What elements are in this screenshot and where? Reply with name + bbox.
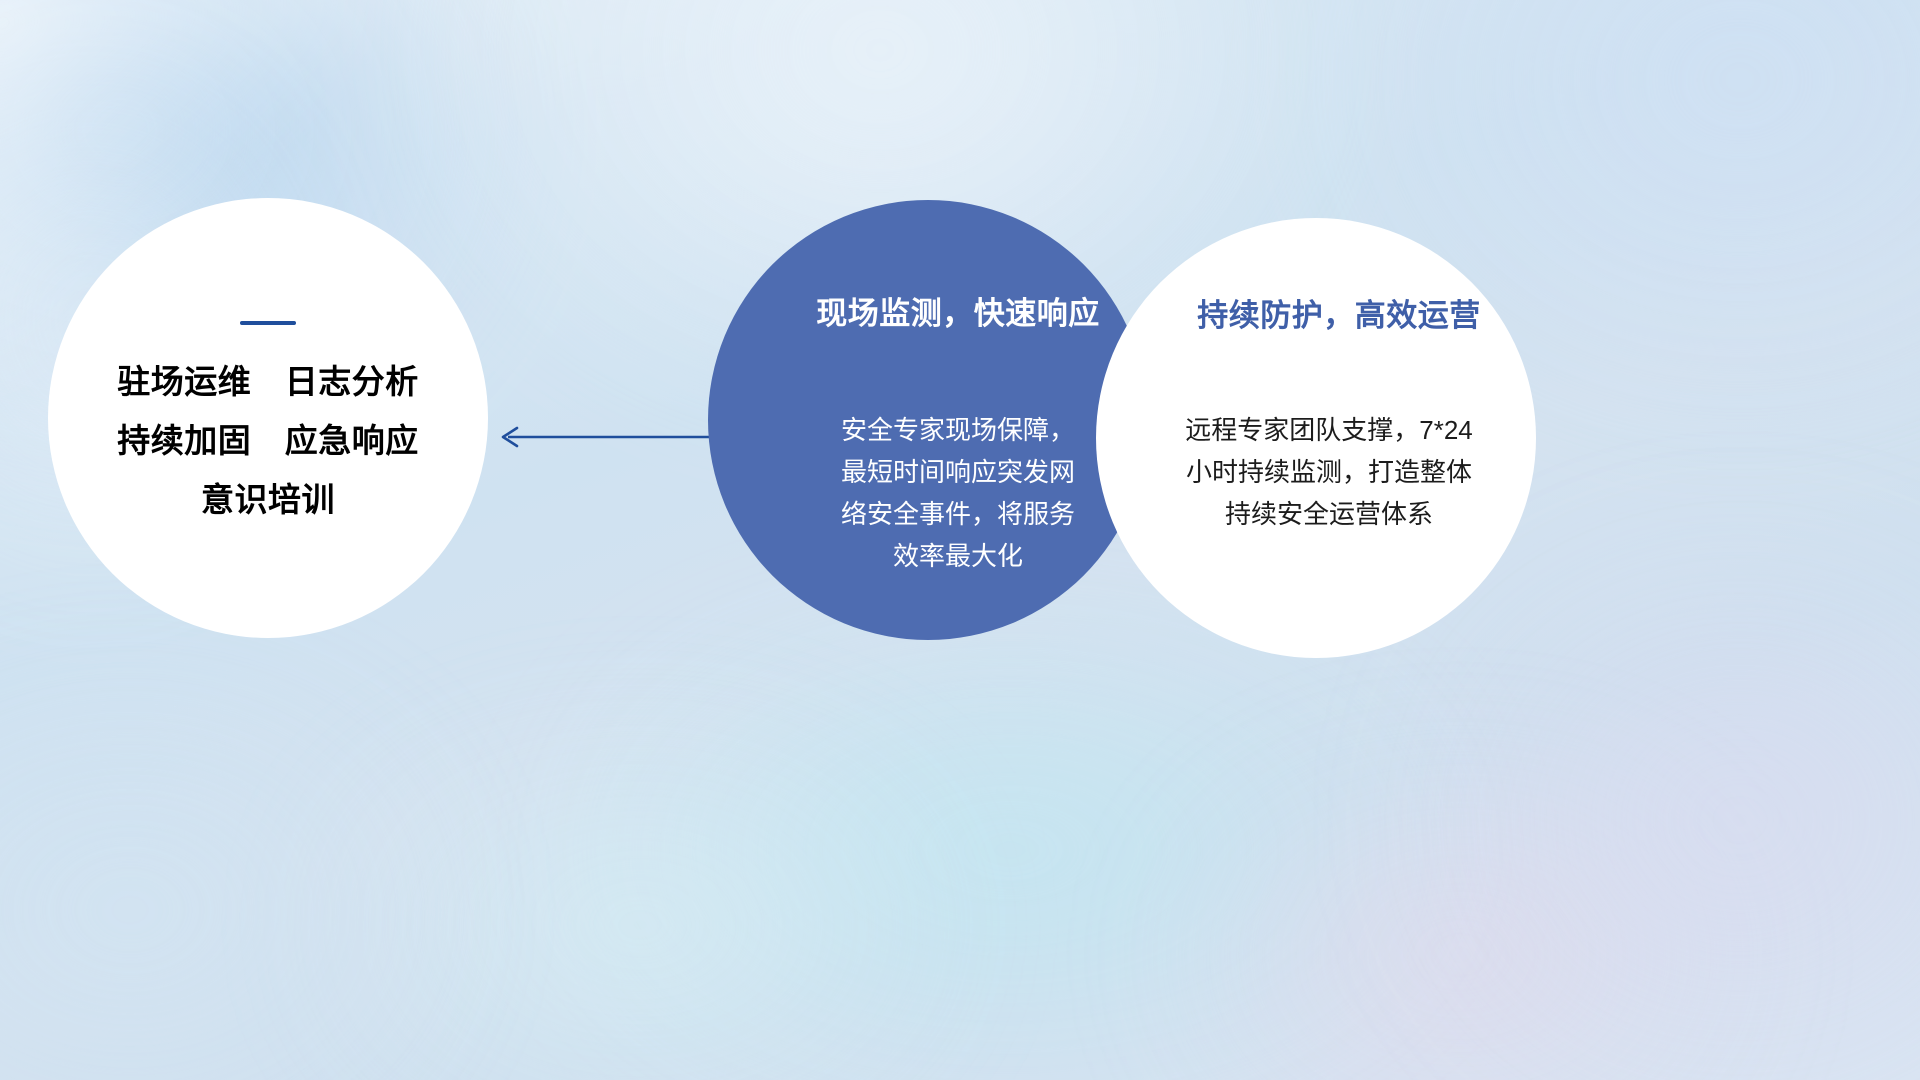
left-circle-line: 驻场运维 日志分析 (117, 365, 419, 398)
flow-arrow-icon (492, 424, 712, 450)
left-capability-circle[interactable]: 驻场运维 日志分析 持续加固 应急响应 意识培训 (48, 198, 488, 638)
middle-circle-title: 现场监测，快速响应 (816, 288, 1100, 333)
right-circle-content: 持续防护，高效运营 远程专家团队支撑，7*24 小时持续监测，打造整体 持续安全… (1096, 218, 1536, 658)
middle-body-line: 最短时间响应突发网 (808, 451, 1108, 493)
divider-rule (240, 321, 296, 325)
left-circle-line: 意识培训 (201, 483, 335, 516)
right-body-line: 远程专家团队支撑，7*24 (1154, 409, 1504, 451)
left-circle-content: 驻场运维 日志分析 持续加固 应急响应 意识培训 (48, 198, 488, 638)
right-circle-body: 远程专家团队支撑，7*24 小时持续监测，打造整体 持续安全运营体系 (1154, 409, 1504, 535)
middle-body-line: 效率最大化 (808, 535, 1108, 577)
right-operations-circle[interactable]: 持续防护，高效运营 远程专家团队支撑，7*24 小时持续监测，打造整体 持续安全… (1096, 218, 1536, 658)
middle-body-line: 络安全事件，将服务 (808, 493, 1108, 535)
middle-onsite-circle[interactable]: 现场监测，快速响应 安全专家现场保障， 最短时间响应突发网 络安全事件，将服务 … (708, 200, 1148, 640)
middle-circle-content: 现场监测，快速响应 安全专家现场保障， 最短时间响应突发网 络安全事件，将服务 … (708, 200, 1148, 640)
middle-circle-body: 安全专家现场保障， 最短时间响应突发网 络安全事件，将服务 效率最大化 (808, 409, 1108, 577)
right-circle-title: 持续防护，高效运营 (1197, 290, 1481, 335)
right-body-line: 小时持续监测，打造整体 (1154, 451, 1504, 493)
middle-body-line: 安全专家现场保障， (808, 409, 1108, 451)
right-body-line: 持续安全运营体系 (1154, 493, 1504, 535)
slide-canvas: 驻场运维 日志分析 持续加固 应急响应 意识培训 现场监测，快速响应 安全专家现… (0, 0, 1920, 1080)
left-circle-line: 持续加固 应急响应 (117, 424, 419, 457)
